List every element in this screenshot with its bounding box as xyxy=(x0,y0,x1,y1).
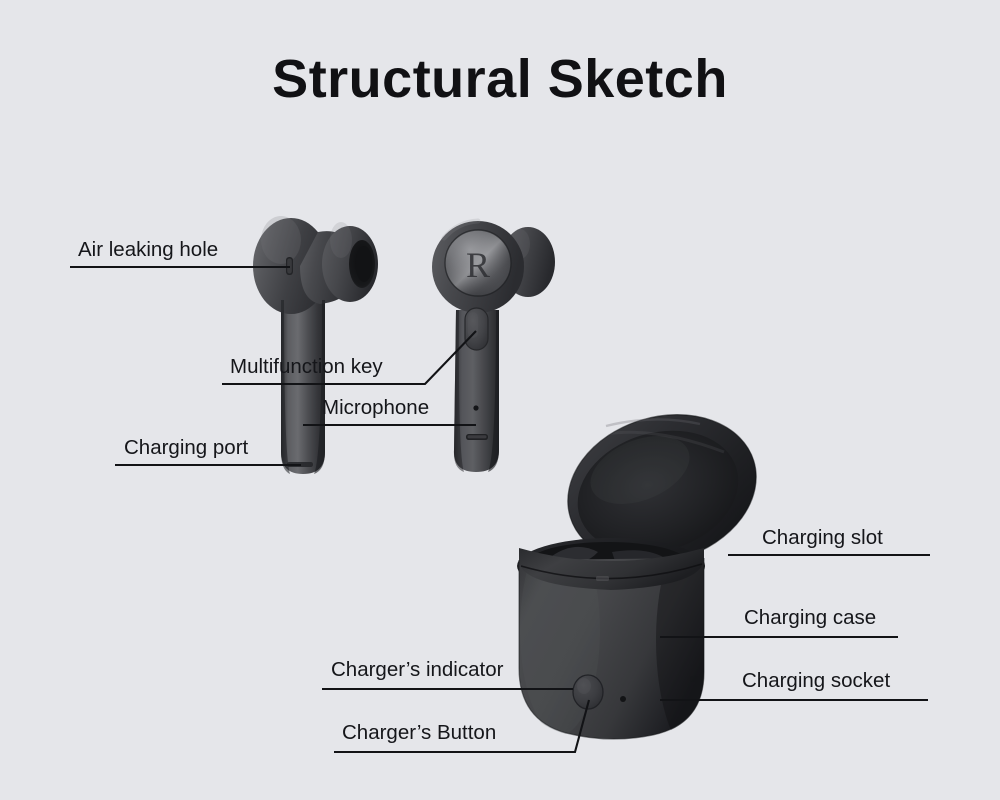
right-earbud: R xyxy=(432,221,555,472)
charging-case xyxy=(517,392,775,760)
label-chargers-button: Charger’s Button xyxy=(342,723,496,744)
label-charging-port: Charging port xyxy=(124,438,248,459)
label-charging-case: Charging case xyxy=(744,608,876,629)
chargers-indicator xyxy=(620,696,626,702)
charging-case-latch xyxy=(596,576,609,581)
left-ear-tip-bore xyxy=(356,246,373,282)
structural-sketch-diagram: Structural Sketch xyxy=(0,0,1000,800)
label-microphone: Microphone xyxy=(322,398,429,419)
label-air-leaking-hole: Air leaking hole xyxy=(78,240,218,261)
left-earbud xyxy=(253,216,378,474)
right-charging-contact-inner xyxy=(468,435,487,438)
charging-socket xyxy=(690,676,702,682)
label-charging-socket: Charging socket xyxy=(742,671,890,692)
label-charging-slot: Charging slot xyxy=(762,528,883,549)
right-earbud-marking: R xyxy=(466,245,490,285)
left-tip-highlight xyxy=(330,222,352,258)
left-head-highlight xyxy=(261,216,301,264)
chargers-button-highlight xyxy=(577,678,591,694)
label-chargers-indicator: Charger’s indicator xyxy=(331,660,503,681)
microphone-hole xyxy=(473,405,478,410)
label-multifunction-key: Multifunction key xyxy=(230,357,383,378)
